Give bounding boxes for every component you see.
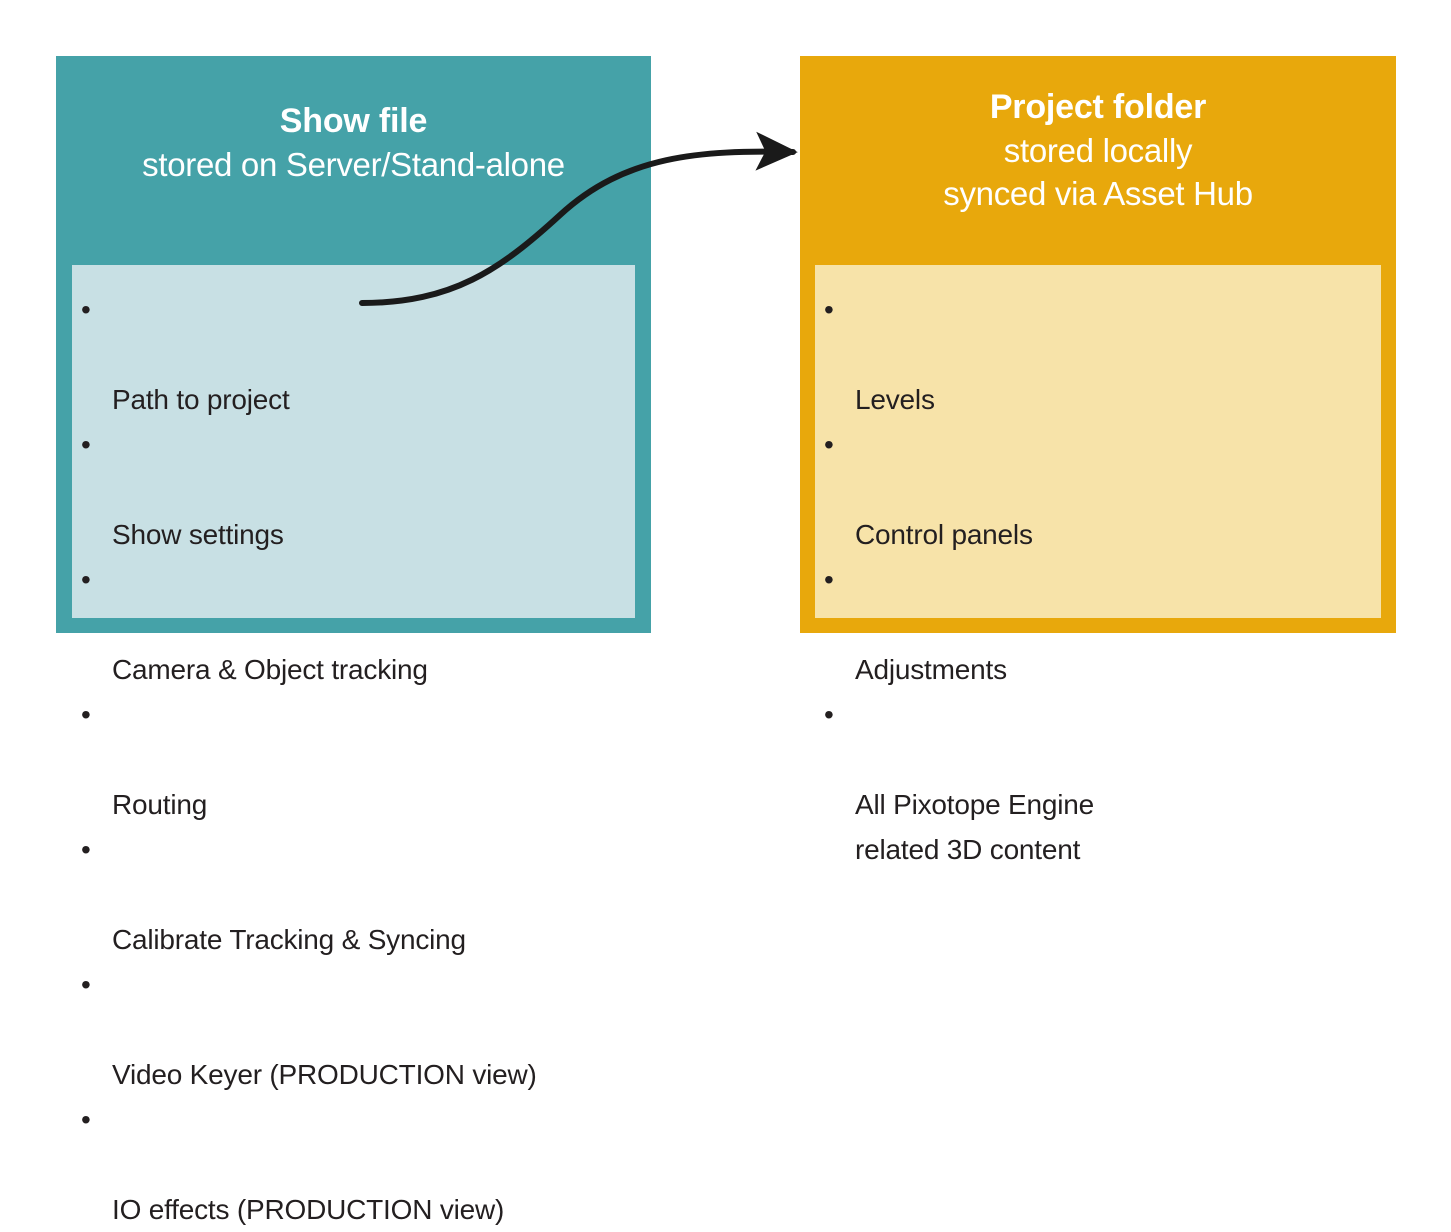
list-item: • Adjustments — [815, 557, 1381, 692]
list-item: • Routing — [72, 692, 635, 827]
list-item: • Camera & Object tracking — [72, 557, 635, 692]
list-item-label: Adjustments — [855, 654, 1007, 685]
list-item-label: Video Keyer (PRODUCTION view) — [112, 1059, 537, 1090]
bullet-icon: • — [824, 422, 834, 467]
list-item-label: IO effects (PRODUCTION view) — [112, 1194, 504, 1225]
bullet-icon: • — [81, 287, 91, 332]
show-file-panel: • Path to project • Show settings • Came… — [72, 265, 635, 618]
list-item-label: All Pixotope Engine related 3D content — [855, 789, 1094, 865]
list-item-label: Levels — [855, 384, 935, 415]
list-item-label: Camera & Object tracking — [112, 654, 428, 685]
project-folder-card: Project folder stored locally synced via… — [800, 56, 1396, 633]
project-folder-bullet-list: • Levels • Control panels • Adjustments … — [815, 287, 1381, 872]
list-item: • Path to project — [72, 287, 635, 422]
bullet-icon: • — [81, 557, 91, 602]
show-file-bullet-list: • Path to project • Show settings • Came… — [72, 287, 635, 1232]
list-item: • Calibrate Tracking & Syncing — [72, 827, 635, 962]
bullet-icon: • — [81, 962, 91, 1007]
list-item-label: Routing — [112, 789, 207, 820]
bullet-icon: • — [824, 557, 834, 602]
bullet-icon: • — [81, 422, 91, 467]
list-item: • Video Keyer (PRODUCTION view) — [72, 962, 635, 1097]
bullet-icon: • — [81, 827, 91, 872]
bullet-icon: • — [81, 692, 91, 737]
bullet-icon: • — [81, 1097, 91, 1142]
project-folder-subtitle-line-1: stored locally — [800, 129, 1396, 172]
show-file-card: Show file stored on Server/Stand-alone •… — [56, 56, 651, 633]
list-item: • IO effects (PRODUCTION view) — [72, 1097, 635, 1232]
list-item-label: Control panels — [855, 519, 1033, 550]
diagram-canvas: Show file stored on Server/Stand-alone •… — [0, 0, 1451, 688]
project-folder-subtitle-line-2: synced via Asset Hub — [800, 172, 1396, 215]
list-item: • Show settings — [72, 422, 635, 557]
project-folder-title: Project folder — [800, 86, 1396, 129]
show-file-subtitle: stored on Server/Stand-alone — [56, 143, 651, 186]
list-item-label: Calibrate Tracking & Syncing — [112, 924, 466, 955]
list-item-label: Show settings — [112, 519, 284, 550]
list-item: • All Pixotope Engine related 3D content — [815, 692, 1381, 872]
list-item-label: Path to project — [112, 384, 290, 415]
project-folder-panel: • Levels • Control panels • Adjustments … — [815, 265, 1381, 618]
show-file-title: Show file — [56, 100, 651, 143]
bullet-icon: • — [824, 287, 834, 332]
project-folder-header: Project folder stored locally synced via… — [800, 56, 1396, 215]
list-item: • Control panels — [815, 422, 1381, 557]
list-item: • Levels — [815, 287, 1381, 422]
show-file-header: Show file stored on Server/Stand-alone — [56, 56, 651, 186]
bullet-icon: • — [824, 692, 834, 737]
